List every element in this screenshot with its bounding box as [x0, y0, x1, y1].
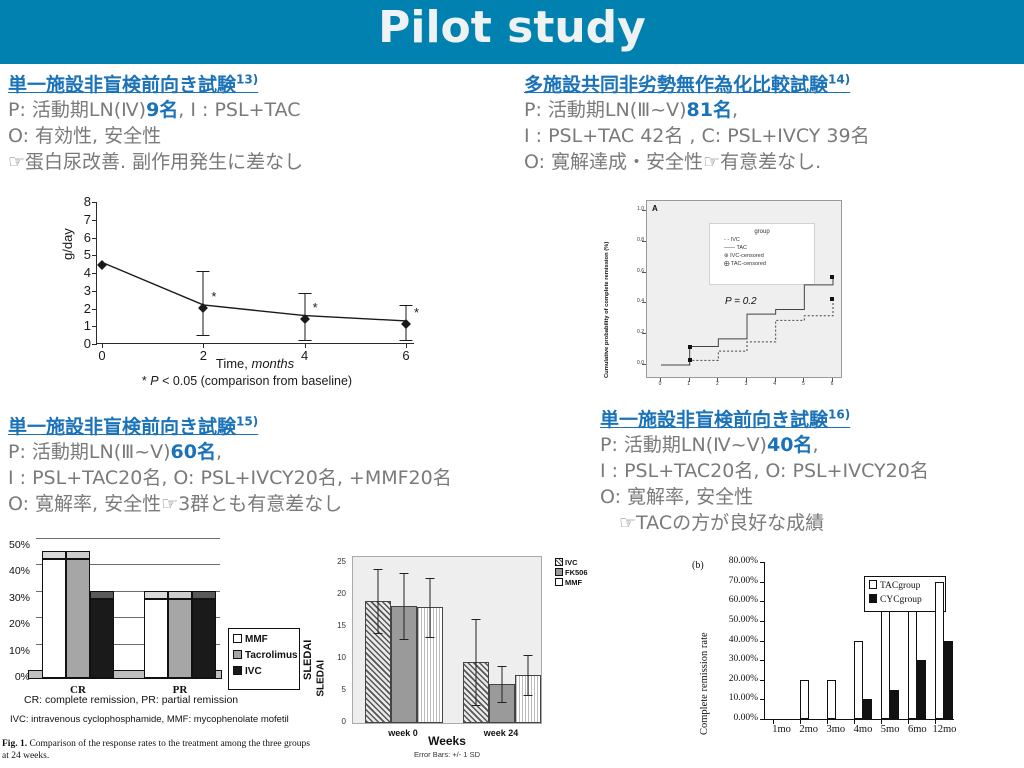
error-bar: [404, 573, 405, 638]
error-bar: [502, 666, 503, 702]
x-tick-label: PR: [173, 684, 188, 696]
legend-item: IVC: [555, 558, 588, 567]
error-bar-cap: [298, 340, 311, 341]
line-post: , I : PSL+TAC: [178, 99, 300, 121]
y-tick-label: 0.00%: [712, 713, 758, 723]
y-tick-label: 0.4: [626, 298, 644, 304]
significance-star: *: [414, 305, 419, 320]
x-tick-mark: [717, 378, 718, 382]
bar-cycgroup-12mo: [944, 641, 953, 720]
line-pre: P: 活動期LN(Ⅳ): [8, 99, 146, 121]
chart-note: IVC: intravenous cyclophosphamide, MMF: …: [10, 714, 289, 725]
y-tick-label: 0%: [2, 671, 30, 683]
y-axis-label: SLEDAI: [302, 640, 314, 680]
y-tick-mark: [642, 210, 646, 211]
figure-caption: Fig. 1. Comparison of the response rates…: [2, 738, 316, 762]
error-bar-cap: [298, 293, 311, 294]
y-tick-label: 7: [77, 212, 91, 227]
y-tick-label: 25: [326, 557, 346, 566]
study-line: I : PSL+TAC 42名 , C: PSL+IVCY 39名: [524, 123, 870, 149]
y-tick-mark: [642, 272, 646, 273]
y-axis-label: g/day: [60, 228, 75, 260]
study-line: ☞TACの方が良好な成績: [600, 510, 929, 536]
legend-swatch: [555, 558, 563, 566]
x-tick-label: 1mo: [772, 724, 791, 735]
y-tick-mark: [760, 562, 764, 563]
study-title-15: 単一施設非盲検前向き試験15): [8, 412, 258, 439]
bar-mmf-cr: [42, 559, 66, 678]
study-title-text: 単一施設非盲検前向き試験: [8, 416, 236, 438]
response-rate-3d-bar-chart: MMF Tacrolimus IVC SLEDAI CR: complete r…: [0, 542, 318, 768]
y-tick-mark: [760, 699, 764, 700]
y-tick-mark: [642, 364, 646, 365]
x-tick-label: 5mo: [881, 724, 900, 735]
error-bar-cap: [426, 637, 435, 638]
y-tick-mark: [760, 601, 764, 602]
y-tick-label: 0.8: [626, 237, 644, 243]
y-tick-label: 0: [326, 717, 346, 726]
error-bar-cap: [472, 619, 481, 620]
censored-marker: [830, 275, 834, 279]
page-title: Pilot study: [0, 2, 1024, 53]
study-line: O: 寛解達成・安全性☞有意差なし.: [524, 149, 870, 175]
legend-swatch: [233, 634, 242, 643]
y-axis-label: Complete remission rate: [699, 632, 710, 735]
slide-header-banner: Pilot study: [0, 0, 1024, 64]
legend-item: CYCgroup: [869, 594, 945, 605]
y-tick-label: 6: [77, 230, 91, 245]
study-line: ☞蛋白尿改善. 副作用発生に差なし: [8, 149, 303, 175]
y-tick-label: 3: [77, 283, 91, 298]
bar-tacgroup-12mo: [935, 582, 944, 719]
censored-marker: [688, 358, 692, 362]
chart-note: CR: complete remission, PR: partial remi…: [24, 694, 238, 706]
y-tick-label: 10: [326, 653, 346, 662]
bar-top-face: [90, 591, 114, 599]
censored-marker: [830, 297, 834, 301]
legend-item: MMF: [555, 578, 588, 587]
y-tick-label: 30%: [2, 592, 30, 604]
x-axis-label: Time, months: [96, 356, 414, 371]
y-axis: [764, 562, 765, 720]
line-pre: P: 活動期LN(Ⅲ~Ⅴ): [524, 99, 687, 121]
plot-area: TACgroup CYCgroup: [764, 562, 954, 720]
study-line: I : PSL+TAC20名, O: PSL+IVCY20名, +MMF20名: [8, 465, 452, 491]
error-bar-cap: [197, 335, 210, 336]
bar-top-face: [144, 591, 168, 599]
study-line: P: 活動期LN(Ⅳ)9名, I : PSL+TAC: [8, 97, 303, 123]
plot-area: A group - - IVC ―― TAC ⊛ IVC-censored ⨁ …: [646, 200, 842, 378]
caption-label: Fig. 1.: [2, 739, 27, 749]
chart-legend: MMF Tacrolimus IVC: [228, 628, 300, 690]
x-tick-label: 3mo: [827, 724, 846, 735]
study-line: O: 寛解率, 安全性☞3群とも有意差なし: [8, 491, 452, 517]
y-tick-label: 1.0: [626, 206, 644, 212]
study-title-14: 多施設共同非劣勢無作為化比較試験14): [524, 70, 850, 97]
line-post: ,: [216, 441, 222, 463]
reference-marker: 14): [828, 73, 850, 87]
x-tick-mark: [746, 378, 747, 382]
y-tick-label: 80.00%: [712, 556, 758, 566]
censored-marker: [688, 345, 692, 349]
chart-footnote: * P < 0.05 (comparison from baseline): [72, 374, 422, 388]
bar-tacrolimus-cr: [66, 559, 90, 678]
bar-tacgroup-5mo: [881, 611, 890, 719]
y-tick-label: 10%: [2, 645, 30, 657]
x-tick-label: 4mo: [854, 724, 873, 735]
bar-top-face: [168, 591, 192, 599]
error-bar-cap: [472, 705, 481, 706]
study-block-16: 単一施設非盲検前向き試験16) P: 活動期LN(Ⅳ~Ⅴ)40名, I : PS…: [600, 405, 929, 536]
bar-top-face: [66, 551, 90, 559]
x-tick-label: week 24: [484, 728, 519, 738]
chart-legend: IVC FK506 MMF: [555, 558, 588, 588]
x-tick-label: CR: [70, 684, 86, 696]
y-axis-label: Cumulative probability of complete remis…: [604, 242, 610, 378]
y-tick-label: 8: [77, 194, 91, 209]
error-bar-cap: [400, 305, 413, 306]
line-highlight: 60名: [171, 441, 216, 463]
y-tick-label: 40.00%: [712, 635, 758, 645]
bar-tacrolimus-pr: [168, 599, 192, 678]
y-tick-label: 0.2: [626, 329, 644, 335]
study-line: O: 寛解率, 安全性: [600, 484, 929, 510]
km-complete-remission-chart: Cumulative probability of complete remis…: [606, 200, 846, 400]
y-tick-label: 10.00%: [712, 693, 758, 703]
reference-marker: 13): [236, 73, 258, 87]
reference-marker: 15): [236, 415, 258, 429]
bar-cycgroup-5mo: [890, 690, 899, 719]
x-axis: [764, 719, 954, 720]
y-tick-label: 50.00%: [712, 615, 758, 625]
y-tick-label: 5: [326, 685, 346, 694]
y-tick-label: 20%: [2, 618, 30, 630]
line-highlight: 9名: [146, 99, 178, 121]
bar-tacgroup-4mo: [854, 641, 863, 720]
x-tick-mark: [775, 378, 776, 382]
study-block-14: 多施設共同非劣勢無作為化比較試験14) P: 活動期LN(Ⅲ~Ⅴ)81名, I …: [524, 70, 870, 175]
bar-ivc-cr: [90, 599, 114, 678]
study-block-13: 単一施設非盲検前向き試験13) P: 活動期LN(Ⅳ)9名, I : PSL+T…: [8, 70, 303, 175]
bar-cycgroup-4mo: [863, 699, 872, 719]
y-tick-label: 5: [77, 247, 91, 262]
x-tick-label: 12mo: [932, 724, 956, 735]
caption-text: Comparison of the response rates to the …: [2, 739, 310, 761]
significance-star: *: [211, 289, 216, 304]
y-tick-mark: [760, 680, 764, 681]
x-tick-mark: [803, 378, 804, 382]
bar-tacgroup-3mo: [827, 680, 836, 719]
y-tick-label: 20.00%: [712, 674, 758, 684]
study-line: P: 活動期LN(Ⅳ~Ⅴ)40名,: [600, 432, 929, 458]
line-highlight: 40名: [767, 434, 812, 456]
error-bar: [378, 569, 379, 633]
y-tick-label: 40%: [2, 565, 30, 577]
error-bar-cap: [374, 633, 383, 634]
legend-swatch: [233, 666, 242, 675]
legend-swatch: [233, 650, 242, 659]
y-tick-label: 2: [77, 301, 91, 316]
chart-footnote: Error Bars: +/- 1 SD: [352, 750, 542, 759]
legend-swatch: [869, 594, 877, 603]
legend-item: FK506: [555, 568, 588, 577]
y-tick-mark: [760, 719, 764, 720]
x-tick-label: 6mo: [908, 724, 927, 735]
line-pre: P: 活動期LN(Ⅲ~Ⅴ): [8, 441, 171, 463]
y-tick-label: 1: [77, 318, 91, 333]
line-highlight: 81名: [687, 99, 732, 121]
gridline: [36, 538, 220, 539]
y-tick-mark: [760, 660, 764, 661]
y-tick-mark: [760, 582, 764, 583]
y-tick-label: 0: [77, 336, 91, 351]
y-tick-label: 50%: [2, 539, 30, 551]
study-title-text: 単一施設非盲検前向き試験: [600, 409, 828, 431]
sledai-bar-chart: SLEDAI Weeks Error Bars: +/- 1 SD IVC FK…: [312, 552, 584, 768]
legend-item: TACgroup: [869, 580, 945, 591]
error-bar-cap: [498, 666, 507, 667]
error-bar: [430, 578, 431, 637]
error-bar: [528, 655, 529, 696]
y-tick-mark: [760, 621, 764, 622]
x-tick-label: week 0: [388, 728, 418, 738]
study-line: I : PSL+TAC20名, O: PSL+IVCY20名: [600, 458, 929, 484]
proteinuria-line-chart: g/day 0123456780246*** Time, months * P …: [62, 198, 432, 388]
x-tick-mark: [660, 378, 661, 382]
study-title-text: 多施設共同非劣勢無作為化比較試験: [524, 74, 828, 96]
bar-tacgroup-6mo: [908, 611, 917, 719]
bar-top-face: [192, 591, 216, 599]
study-title-text: 単一施設非盲検前向き試験: [8, 74, 236, 96]
legend-swatch: [555, 578, 563, 586]
y-tick-label: 70.00%: [712, 576, 758, 586]
legend-swatch: [869, 580, 877, 589]
chart-legend: TACgroup CYCgroup: [864, 576, 946, 612]
y-tick-label: 4: [77, 265, 91, 280]
legend-item: MMF: [233, 634, 299, 645]
error-bar-cap: [374, 569, 383, 570]
error-bar-cap: [524, 655, 533, 656]
study-title-16: 単一施設非盲検前向き試験16): [600, 405, 850, 432]
bar-tacgroup-2mo: [800, 680, 809, 719]
y-tick-mark: [642, 241, 646, 242]
y-tick-label: 60.00%: [712, 595, 758, 605]
x-tick-mark: [832, 378, 833, 382]
error-bar-cap: [524, 695, 533, 696]
y-tick-mark: [642, 333, 646, 334]
error-bar-cap: [400, 573, 409, 574]
bar-ivc-pr: [192, 599, 216, 678]
error-bar-cap: [197, 271, 210, 272]
km-step-curves: [647, 201, 841, 377]
y-tick-label: 20: [326, 589, 346, 598]
y-tick-mark: [642, 302, 646, 303]
study-line: P: 活動期LN(Ⅲ~Ⅴ)81名,: [524, 97, 870, 123]
plot-area: [352, 556, 542, 724]
x-tick-label: 2mo: [799, 724, 818, 735]
bar-top-face: [42, 551, 66, 559]
y-tick-label: 30.00%: [712, 654, 758, 664]
y-tick-label: 0.0: [626, 360, 644, 366]
legend-swatch: [555, 568, 563, 576]
study-title-13: 単一施設非盲検前向き試験13): [8, 70, 258, 97]
study-block-15: 単一施設非盲検前向き試験15) P: 活動期LN(Ⅲ~Ⅴ)60名, I : PS…: [8, 412, 452, 517]
error-bar-cap: [400, 340, 413, 341]
error-bar-cap: [400, 639, 409, 640]
y-tick-mark: [760, 641, 764, 642]
plot-area: 0123456780246***: [96, 202, 414, 344]
error-bar-cap: [426, 578, 435, 579]
bar-mmf-pr: [144, 599, 168, 678]
y-tick-mark: [92, 344, 97, 345]
complete-remission-rate-bar-chart: (b) Complete remission rate TACgroup CYC…: [684, 552, 1024, 768]
study-line: P: 活動期LN(Ⅲ~Ⅴ)60名,: [8, 439, 452, 465]
y-tick-label: 0.6: [626, 268, 644, 274]
series-line: [96, 202, 414, 344]
panel-label: (b): [692, 560, 704, 571]
line-post: ,: [732, 99, 738, 121]
error-bar: [476, 619, 477, 705]
reference-marker: 16): [828, 408, 850, 422]
study-line: O: 有効性, 安全性: [8, 123, 303, 149]
bar-cycgroup-6mo: [917, 660, 926, 719]
x-tick-mark: [689, 378, 690, 382]
line-post: ,: [812, 434, 818, 456]
error-bar-cap: [498, 702, 507, 703]
legend-item: IVC: [233, 666, 299, 677]
legend-item: Tacrolimus: [233, 650, 299, 661]
line-pre: P: 活動期LN(Ⅳ~Ⅴ): [600, 434, 767, 456]
y-tick-label: 15: [326, 621, 346, 630]
significance-star: *: [313, 300, 318, 315]
